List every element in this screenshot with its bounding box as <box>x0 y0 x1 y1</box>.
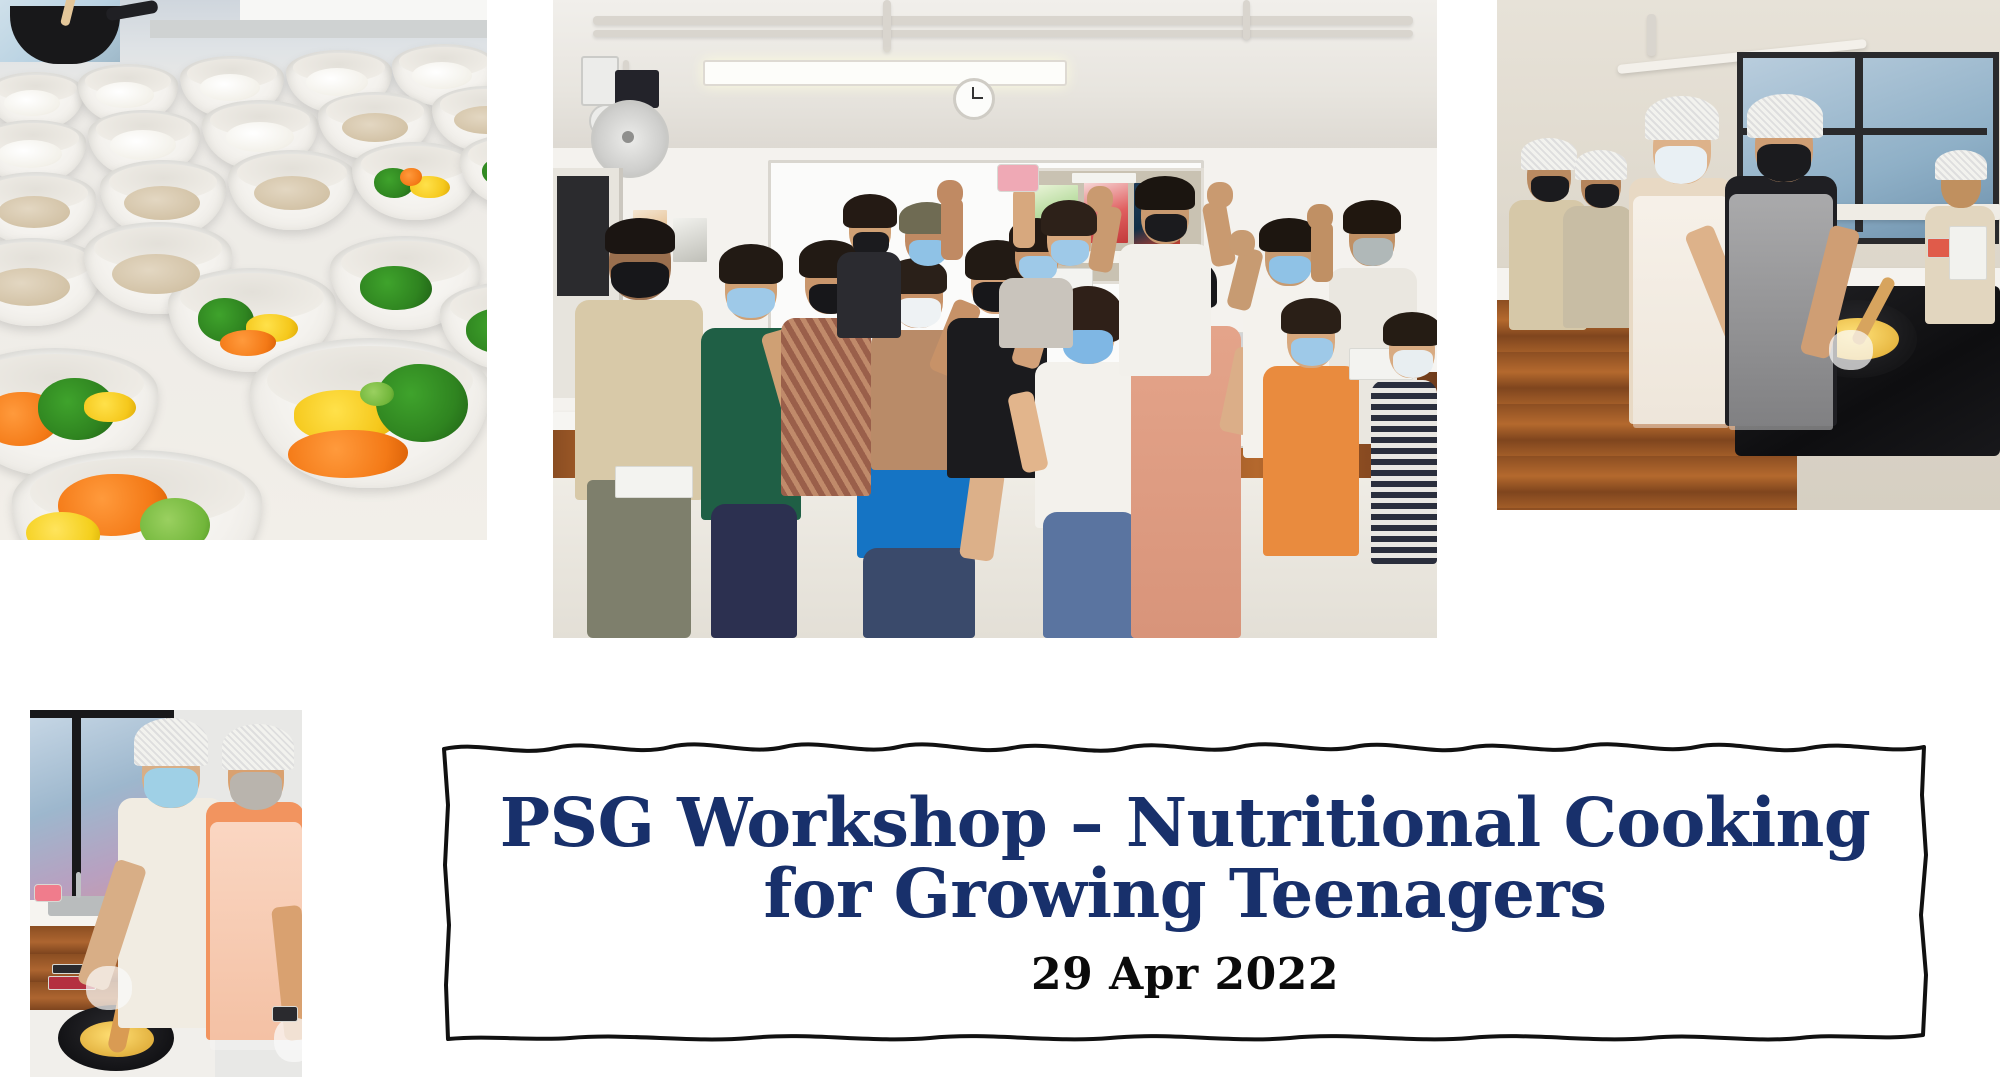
plaque-content: PSG Workshop – Nutritional Cooking for G… <box>440 735 1930 1046</box>
photo-food-bowls <box>0 0 487 540</box>
photo-couple-cooking <box>30 710 302 1077</box>
tap <box>76 872 81 898</box>
photo-cooking-demo <box>1497 0 2000 510</box>
wall-clock <box>953 78 995 120</box>
wall-fan <box>591 100 669 178</box>
food-bowls-scene <box>0 0 487 540</box>
group-photo-scene <box>553 0 1437 638</box>
cooking-scene <box>1497 0 2000 510</box>
wall-speaker <box>581 56 619 106</box>
doorway <box>557 176 609 296</box>
photo-group <box>553 0 1437 638</box>
slide-canvas: PSG Workshop – Nutritional Cooking for G… <box>0 0 2000 1077</box>
workshop-date: 29 Apr 2022 <box>1031 949 1339 1000</box>
ceiling-light <box>703 60 1067 86</box>
title-plaque: PSG Workshop – Nutritional Cooking for G… <box>440 735 1930 1046</box>
couple-cooking-scene <box>30 710 302 1077</box>
workshop-title: PSG Workshop – Nutritional Cooking for G… <box>500 787 1870 929</box>
counter-edge <box>150 20 487 38</box>
